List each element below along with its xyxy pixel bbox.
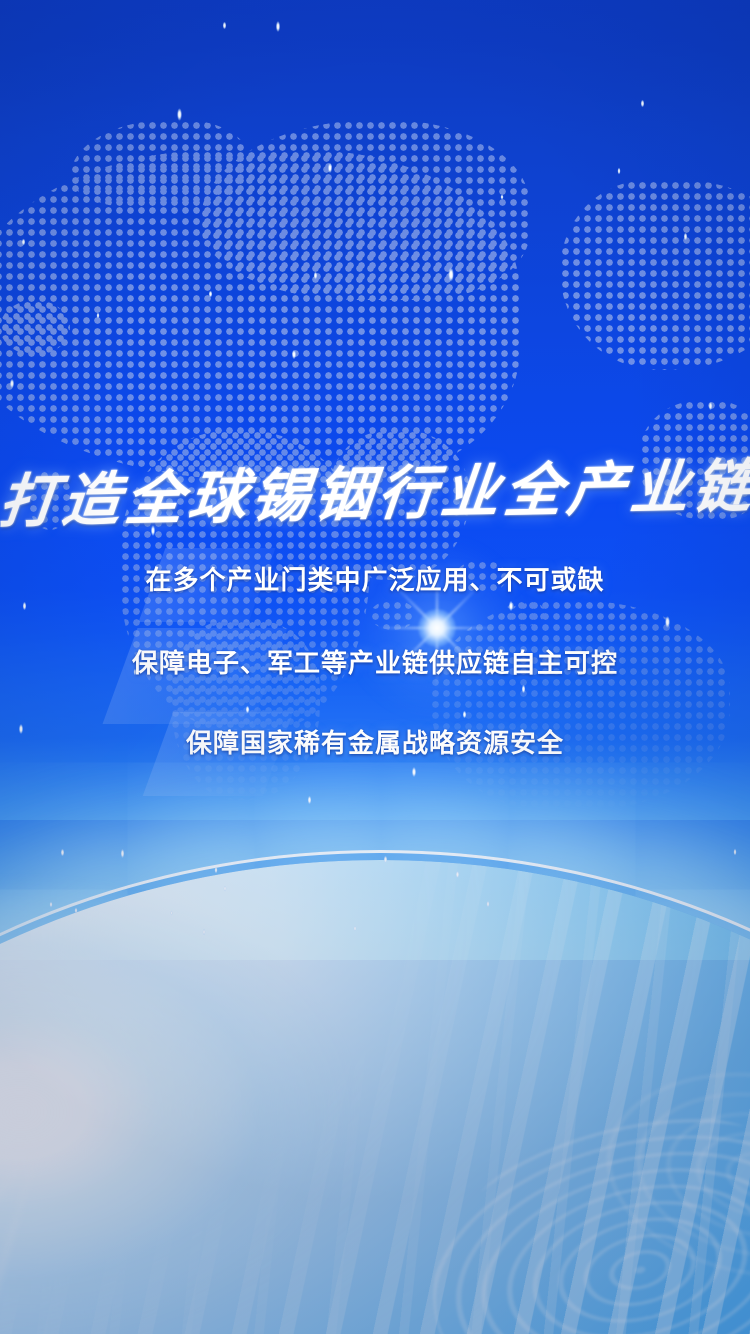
map-landmass-northeast-asia bbox=[560, 180, 750, 370]
map-landmass-north-asia bbox=[200, 120, 530, 300]
map-island-b bbox=[505, 600, 545, 626]
map-landmass-oceania bbox=[430, 600, 730, 810]
map-island-c bbox=[370, 600, 416, 630]
poster-canvas: 打造全球锡铟行业全产业链链主 在多个产业门类中广泛应用、不可或缺 保障电子、军工… bbox=[0, 0, 750, 1334]
subtitle-line-3: 保障国家稀有金属战略资源安全 bbox=[0, 723, 750, 760]
map-island-e bbox=[0, 300, 70, 355]
subtitle-line-2: 保障电子、军工等产业链供应链自主可控 bbox=[0, 643, 750, 680]
subtitle-line-1: 在多个产业门类中广泛应用、不可或缺 bbox=[0, 560, 750, 597]
page-title: 打造全球锡铟行业全产业链链主 bbox=[0, 449, 750, 539]
dotted-world-map bbox=[0, 0, 750, 820]
